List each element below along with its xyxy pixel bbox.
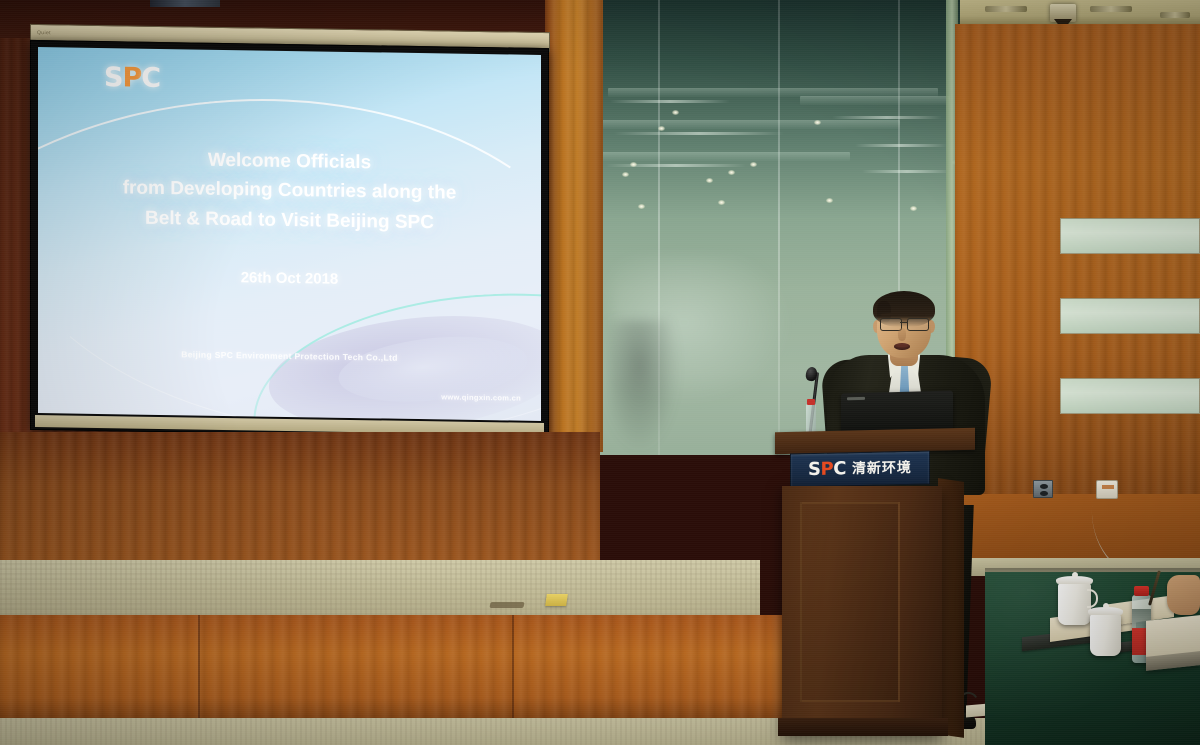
logo-letter-p: P — [122, 62, 141, 93]
teacup-knob — [1072, 572, 1078, 578]
slide-date: 26th Oct 2018 — [38, 266, 541, 291]
recessed-light-icon — [672, 110, 679, 115]
stage-yellow-card — [545, 594, 568, 606]
wood-column — [545, 0, 603, 452]
bottle-cap — [1134, 586, 1149, 596]
podium-top-surface — [775, 428, 975, 455]
ceiling-reflection-band — [600, 152, 850, 161]
stage-front-panel — [0, 615, 790, 725]
ceiling-vent — [1090, 6, 1132, 12]
recessed-light-icon — [658, 126, 665, 131]
recessed-light-icon — [638, 204, 645, 209]
conference-photo-scene: Quiet SPC Welcome Officials from Develop… — [0, 0, 1200, 745]
plaque-letter-p: P — [821, 459, 834, 480]
right-wood-panel-wall — [955, 24, 1200, 494]
light-reflection — [862, 170, 952, 173]
right-lower-wall — [955, 494, 1200, 566]
ceiling-reflection-band — [600, 120, 900, 129]
valance-label: Quiet — [37, 30, 51, 36]
stage-panel-seam — [198, 615, 200, 725]
spc-logo: SPC — [104, 64, 160, 92]
bottle-cap — [807, 399, 815, 405]
light-reflection — [606, 164, 746, 167]
glasses-lens-right — [907, 318, 929, 331]
frosted-glass-strip — [1060, 298, 1200, 334]
light-reflection — [610, 100, 730, 103]
stage-platform-top — [0, 560, 760, 620]
slide-website-url: www.qingxin.com.cn — [441, 392, 521, 402]
teacup-knob — [1103, 603, 1109, 609]
ceiling-reflection-band — [800, 96, 950, 105]
stage-panel-seam — [512, 615, 514, 725]
podium-body — [782, 486, 942, 736]
projection-screen[interactable]: SPC Welcome Officials from Developing Co… — [30, 40, 549, 438]
recessed-light-icon — [750, 162, 757, 167]
stage-back-wall — [0, 432, 600, 564]
recessed-light-icon — [622, 172, 629, 177]
podium-recessed-panel — [800, 502, 900, 702]
slide-title: Welcome Officials from Developing Countr… — [38, 143, 541, 239]
teacup — [1090, 614, 1121, 656]
recessed-light-icon — [728, 170, 735, 175]
eyeglasses-icon — [878, 318, 930, 329]
recessed-light-icon — [630, 162, 637, 167]
podium-base — [778, 718, 948, 736]
ceiling-speaker-icon — [1050, 4, 1076, 22]
name-card — [1146, 615, 1200, 671]
light-reflection — [832, 116, 942, 119]
logo-letter-c: C — [141, 63, 160, 94]
podium-spc-logo: SPC — [808, 460, 846, 479]
ceiling-vent — [985, 6, 1027, 12]
stage-small-object — [489, 602, 524, 608]
recessed-light-icon — [910, 206, 917, 211]
glasses-bridge — [900, 322, 907, 323]
glass-silhouette — [608, 320, 678, 450]
frosted-glass-strip — [1060, 218, 1200, 254]
speaker-mouth — [894, 343, 910, 350]
plaque-letter-s: S — [808, 459, 820, 480]
logo-letter-s: S — [104, 62, 122, 93]
slide-surface: SPC Welcome Officials from Developing Co… — [38, 47, 541, 421]
attendee-hand — [1167, 575, 1200, 615]
plaque-letter-c: C — [833, 458, 846, 479]
light-reflection — [614, 132, 784, 135]
speaker-nose — [898, 328, 906, 341]
podium-chinese-name: 清新环境 — [852, 461, 912, 476]
recessed-light-icon — [718, 200, 725, 205]
ceiling-vent — [1160, 12, 1190, 18]
recessed-light-icon — [706, 178, 713, 183]
av-jack-plate-icon[interactable] — [1033, 480, 1053, 498]
recessed-light-icon — [826, 198, 833, 203]
teacup — [1058, 583, 1091, 625]
podium-plaque: SPC 清新环境 — [790, 451, 930, 488]
recessed-light-icon — [814, 120, 821, 125]
wall-mounted-object — [150, 0, 220, 7]
light-reflection — [855, 144, 947, 147]
frosted-glass-strip — [1060, 378, 1200, 414]
